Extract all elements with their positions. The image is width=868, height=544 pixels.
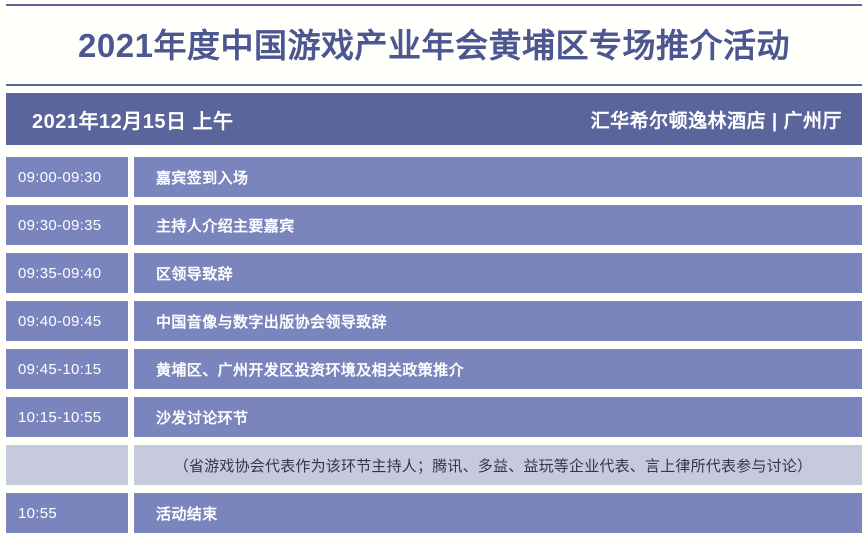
agenda-time-cell: 09:30-09:35 bbox=[6, 205, 128, 245]
agenda-table: 09:00-09:30嘉宾签到入场09:30-09:35主持人介绍主要嘉宾09:… bbox=[6, 157, 862, 541]
page-title: 2021年度中国游戏产业年会黄埔区专场推介活动 bbox=[6, 4, 862, 86]
agenda-time-cell: 09:40-09:45 bbox=[6, 301, 128, 341]
agenda-topic-cell: 活动结束 bbox=[134, 493, 862, 533]
agenda-time-cell: 09:00-09:30 bbox=[6, 157, 128, 197]
agenda-topic-cell: 沙发讨论环节 bbox=[134, 397, 862, 437]
agenda-row: 09:00-09:30嘉宾签到入场 bbox=[6, 157, 862, 197]
agenda-row: 09:30-09:35主持人介绍主要嘉宾 bbox=[6, 205, 862, 245]
agenda-time-cell: 09:45-10:15 bbox=[6, 349, 128, 389]
agenda-row: 09:35-09:40区领导致辞 bbox=[6, 253, 862, 293]
agenda-topic-cell: 主持人介绍主要嘉宾 bbox=[134, 205, 862, 245]
event-date: 2021年12月15日 上午 bbox=[32, 105, 234, 134]
event-venue: 汇华希尔顿逸林酒店 | 广州厅 bbox=[591, 106, 842, 133]
page-title-text: 2021年度中国游戏产业年会黄埔区专场推介活动 bbox=[78, 29, 790, 62]
agenda-topic-cell: 区领导致辞 bbox=[134, 253, 862, 293]
agenda-row: 09:45-10:15黄埔区、广州开发区投资环境及相关政策推介 bbox=[6, 349, 862, 389]
agenda-topic-cell: 嘉宾签到入场 bbox=[134, 157, 862, 197]
agenda-note-row: （省游戏协会代表作为该环节主持人；腾讯、多益、益玩等企业代表、言上律所代表参与讨… bbox=[6, 445, 862, 485]
agenda-row: 10:15-10:55沙发讨论环节 bbox=[6, 397, 862, 437]
agenda-time-cell bbox=[6, 445, 128, 485]
agenda-poster: 2021年度中国游戏产业年会黄埔区专场推介活动 2021年12月15日 上午 汇… bbox=[0, 0, 868, 544]
agenda-row: 10:55活动结束 bbox=[6, 493, 862, 533]
agenda-topic-cell: 中国音像与数字出版协会领导致辞 bbox=[134, 301, 862, 341]
agenda-topic-cell: 黄埔区、广州开发区投资环境及相关政策推介 bbox=[134, 349, 862, 389]
agenda-time-cell: 10:15-10:55 bbox=[6, 397, 128, 437]
agenda-row: 09:40-09:45中国音像与数字出版协会领导致辞 bbox=[6, 301, 862, 341]
agenda-time-cell: 09:35-09:40 bbox=[6, 253, 128, 293]
agenda-note-text: （省游戏协会代表作为该环节主持人；腾讯、多益、益玩等企业代表、言上律所代表参与讨… bbox=[134, 445, 862, 485]
agenda-time-cell: 10:55 bbox=[6, 493, 128, 533]
event-header-bar: 2021年12月15日 上午 汇华希尔顿逸林酒店 | 广州厅 bbox=[6, 93, 862, 145]
